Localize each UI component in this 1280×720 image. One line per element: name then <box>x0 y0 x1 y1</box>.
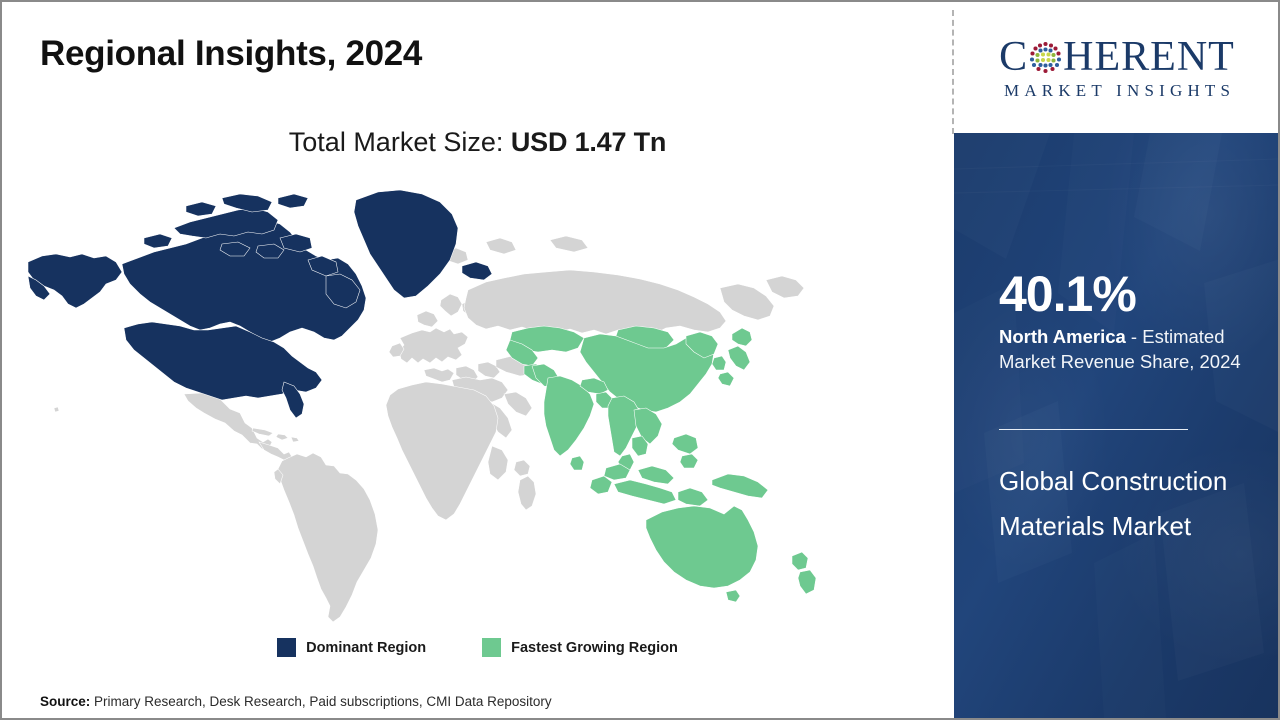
stat-region-name: North America <box>999 326 1126 347</box>
source-text: Primary Research, Desk Research, Paid su… <box>90 694 551 709</box>
total-market-size-label: Total Market Size: <box>289 127 511 157</box>
logo-subtitle: MARKET INSIGHTS <box>999 82 1235 99</box>
brand-logo: C <box>954 2 1280 133</box>
logo-text-before: C <box>999 36 1028 78</box>
total-market-size: Total Market Size: USD 1.47 Tn <box>2 127 953 158</box>
legend-label-fastest-growing: Fastest Growing Region <box>511 640 678 656</box>
right-sidebar: C <box>954 2 1280 718</box>
map-region-fastest-growing <box>506 326 816 602</box>
map-legend: Dominant Region Fastest Growing Region <box>2 638 953 657</box>
source-note: Source: Primary Research, Desk Research,… <box>40 694 552 709</box>
source-label: Source: <box>40 694 90 709</box>
market-report-name: Global Construction Materials Market <box>999 459 1267 549</box>
logo-wordmark: C <box>999 36 1235 78</box>
globe-dots-icon <box>1029 41 1062 74</box>
left-content-panel: Regional Insights, 2024 Total Market Siz… <box>2 2 953 718</box>
world-map-container <box>26 180 856 625</box>
legend-item-fastest-growing: Fastest Growing Region <box>482 638 678 657</box>
panel-background-texture <box>954 133 1280 718</box>
legend-item-dominant: Dominant Region <box>277 638 426 657</box>
world-map <box>26 180 856 625</box>
stat-caption: North America - Estimated Market Revenue… <box>999 325 1267 375</box>
stat-percent-value: 40.1% <box>999 269 1136 319</box>
infographic-slide: Regional Insights, 2024 Total Market Siz… <box>0 0 1280 720</box>
legend-label-dominant: Dominant Region <box>306 640 426 656</box>
legend-swatch-dominant-icon <box>277 638 296 657</box>
stat-divider-line <box>999 429 1188 430</box>
legend-swatch-fastest-growing-icon <box>482 638 501 657</box>
page-title: Regional Insights, 2024 <box>40 34 422 74</box>
logo-text-after: HERENT <box>1063 36 1235 78</box>
total-market-size-value: USD 1.47 Tn <box>511 127 666 157</box>
stat-panel: 40.1% North America - Estimated Market R… <box>954 133 1280 718</box>
